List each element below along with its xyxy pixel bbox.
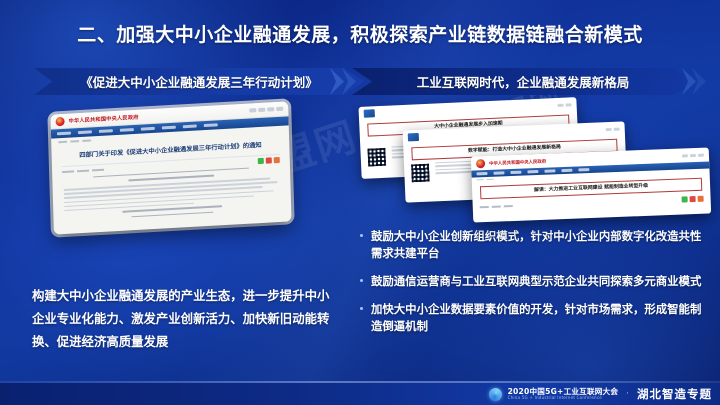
- breadcrumb-segment: [70, 140, 79, 143]
- nav-item-placeholder: [510, 171, 521, 174]
- news-card: 中华人民共和国中央人民政府: [471, 147, 711, 222]
- meta-placeholder: [77, 169, 89, 172]
- weibo-share-icon[interactable]: [266, 157, 272, 163]
- list-item: 鼓励通信运营商与工业互联网典型示范企业共同探索多元商业模式: [360, 273, 710, 290]
- header-placeholder-icon: [267, 107, 274, 111]
- bullet-text: 鼓励通信运营商与工业互联网典型示范企业共同探索多元商业模式: [371, 273, 701, 290]
- conference-branding: 2020中国5G+工业互联网大会 China 5G + Industrial I…: [508, 388, 619, 401]
- meta-placeholder: [62, 170, 74, 173]
- bullet-dot-icon: [360, 234, 363, 237]
- share-buttons[interactable]: [682, 196, 704, 203]
- header-placeholder-icon: [566, 103, 572, 106]
- bullet-dot-icon: [360, 279, 363, 282]
- bullet-text: 加快大中小企业数据要素价值的开发，针对市场需求，形成智能制造倒逼机制: [371, 301, 710, 335]
- news-card-header-utilities: [682, 154, 704, 158]
- bullet-list: 鼓励大中小企业创新组织模式，针对中小企业内部数字化改造共性需求共建平台 鼓励通信…: [360, 228, 710, 347]
- footer-bar: 2020中国5G+工业互联网大会 China 5G + Industrial I…: [0, 383, 720, 405]
- news-screenshot-stack: 大中小企业融通发展步入加速期 来源：工业和信息化部: [360, 100, 710, 218]
- news-card-header-utilities: [558, 103, 572, 107]
- ribbon-right-label: 工业互联网时代，企业融通发展新格局: [417, 72, 630, 91]
- weibo-share-icon[interactable]: [690, 196, 696, 202]
- ribbon-left: 《促进大中小企业融通发展三年行动计划》: [34, 68, 364, 95]
- slide-canvas: 产业联盟网 产业联盟网 二、加强大中小企业融通发展，积极探索产业链数据链融合新模…: [0, 0, 720, 405]
- qr-code-icon: [366, 147, 387, 168]
- government-document-screenshot: 中华人民共和国中央人民政府: [50, 101, 291, 234]
- body-line: [131, 211, 213, 217]
- header-placeholder-icon: [682, 154, 688, 157]
- meta-placeholder: [492, 206, 501, 208]
- breadcrumb-segment: [58, 140, 67, 143]
- ribbon-left-label: 《促进大中小企业融通发展三年行动计划》: [80, 72, 318, 91]
- left-caption: 构建大中小企业融通发展的产业生态，进一步提升中小企业专业化能力、激发产业创新活力…: [32, 285, 332, 354]
- site-logo-icon: [408, 133, 419, 141]
- nav-item-placeholder: [204, 123, 218, 127]
- meta-placeholder: [92, 168, 104, 171]
- nav-item-placeholder: [120, 128, 134, 132]
- nav-item-placeholder: [78, 130, 92, 134]
- print-icon[interactable]: [274, 157, 280, 163]
- nav-item-placeholder: [493, 172, 504, 175]
- ribbon-band: 《促进大中小企业融通发展三年行动计划》 工业互联网时代，企业融通发展新格局: [34, 68, 694, 95]
- nav-item-placeholder: [476, 172, 487, 175]
- wechat-share-icon[interactable]: [682, 196, 688, 202]
- header-placeholder-icon: [698, 154, 704, 157]
- nav-item-placeholder: [57, 132, 71, 136]
- conference-name-cn: 2020中国5G+工业互联网大会: [508, 388, 619, 396]
- print-icon[interactable]: [697, 196, 703, 202]
- meta-placeholder: [504, 205, 513, 207]
- breadcrumb-segment: [477, 179, 484, 181]
- list-item: 鼓励大中小企业创新组织模式，针对中小企业内部数字化改造共性需求共建平台: [360, 228, 710, 262]
- nav-item-placeholder: [162, 126, 176, 130]
- slide-title-container: 二、加强大中小企业融通发展，积极探索产业链数据链融合新模式: [0, 20, 720, 47]
- doc-header-utilities: [249, 107, 283, 113]
- breadcrumb-segment: [82, 139, 91, 142]
- bullet-text: 鼓励大中小企业创新组织模式，针对中小企业内部数字化改造共性需求共建平台: [371, 228, 710, 262]
- right-column: 大中小企业融通发展步入加速期 来源：工业和信息化部: [360, 100, 710, 218]
- national-emblem-icon: [55, 116, 64, 126]
- footer-separator: ·: [626, 389, 629, 399]
- nav-item-placeholder: [99, 129, 113, 133]
- conference-logo-icon: [489, 388, 502, 401]
- bullet-dot-icon: [360, 307, 363, 310]
- header-placeholder-icon: [258, 108, 265, 112]
- header-placeholder-icon: [690, 154, 696, 157]
- document-source-meta: [62, 168, 104, 172]
- meta-placeholder: [480, 206, 489, 208]
- header-placeholder-icon: [249, 108, 256, 112]
- conference-name-en: China 5G + Industrial Internet Conferenc…: [508, 396, 619, 400]
- nav-item-placeholder: [544, 170, 555, 173]
- nav-item-placeholder: [561, 169, 572, 172]
- nav-item-placeholder: [141, 127, 155, 131]
- news-card-header-utilities: [606, 127, 620, 131]
- footer-topic: 湖北智造专题: [637, 386, 712, 402]
- national-emblem-icon: [476, 159, 485, 168]
- header-placeholder-icon: [276, 107, 283, 111]
- list-item: 加快大中小企业数据要素价值的开发，针对市场需求，形成智能制造倒逼机制: [360, 301, 710, 335]
- left-column: 中华人民共和国中央人民政府: [14, 100, 344, 220]
- news-site-name: 中华人民共和国中央人民政府: [489, 158, 546, 166]
- header-placeholder-icon: [606, 127, 612, 130]
- header-placeholder-icon: [614, 127, 620, 130]
- page-title: 二、加强大中小企业融通发展，积极探索产业链数据链融合新模式: [77, 20, 643, 47]
- wechat-share-icon[interactable]: [258, 158, 264, 164]
- share-buttons[interactable]: [258, 157, 280, 164]
- nav-item-placeholder: [578, 168, 589, 171]
- ribbon-right: 工业互联网时代，企业融通发展新格局: [352, 68, 694, 95]
- qr-code-icon: [410, 162, 431, 183]
- nav-item-placeholder: [183, 124, 197, 128]
- doc-site-name: 中华人民共和国中央人民政府: [68, 113, 138, 124]
- site-logo-icon: [364, 109, 375, 117]
- header-placeholder-icon: [558, 103, 564, 106]
- news-source-meta: [480, 205, 513, 208]
- document-body-lines: [52, 165, 291, 222]
- breadcrumb-segment: [487, 178, 494, 180]
- nav-item-placeholder: [527, 170, 538, 173]
